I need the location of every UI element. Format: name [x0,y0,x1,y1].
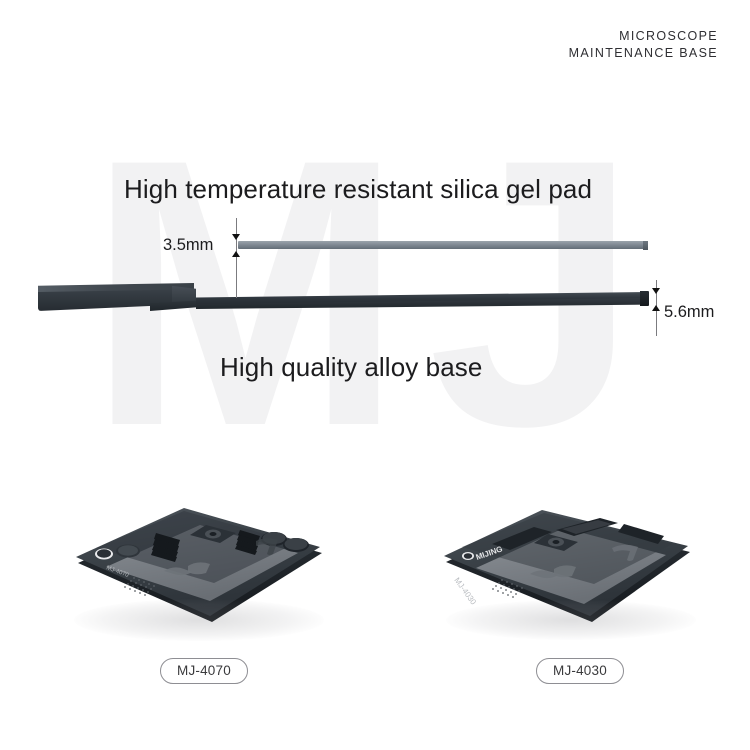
heading-alloy-base: High quality alloy base [220,352,482,383]
dimension-arrow-down-gel-pad [232,234,240,240]
alloy-base-right-edge [640,291,649,306]
cross-section-diagram: 3.5mm 5.6mm [0,0,750,470]
product-mj-4030[interactable]: MIJING MJ-4030 MJ- [432,500,712,655]
dimension-arrow-down-alloy-base [652,288,660,294]
dimension-label-gel-pad: 3.5mm [163,236,213,255]
dimension-arrow-up-gel-pad [232,251,240,257]
dimension-guide-line-gel-pad [236,218,237,298]
product-shadow-mj-4030 [446,600,696,640]
product-shadow-mj-4070 [74,599,324,641]
header-block: MICROSCOPE MAINTENANCE BASE [569,28,718,62]
dimension-arrow-up-alloy-base [652,305,660,311]
silica-gel-pad-bar [238,241,647,249]
product-badge-mj-4030[interactable]: MJ-4030 [536,658,624,684]
heading-silica-gel-pad: High temperature resistant silica gel pa… [124,174,592,205]
product-badge-mj-4070[interactable]: MJ-4070 [160,658,248,684]
header-title-line2: MAINTENANCE BASE [569,45,718,62]
product-infographic-page: MJ MICROSCOPE MAINTENANCE BASE High temp… [0,0,750,750]
silica-gel-pad-end-cap [643,241,648,250]
dimension-label-alloy-base: 5.6mm [664,303,714,322]
product-mj-4070[interactable]: MJ-4070 [60,495,340,655]
header-title-line1: MICROSCOPE [569,28,718,45]
product-side-text-mj-4030: MJ-4030 [452,576,478,607]
